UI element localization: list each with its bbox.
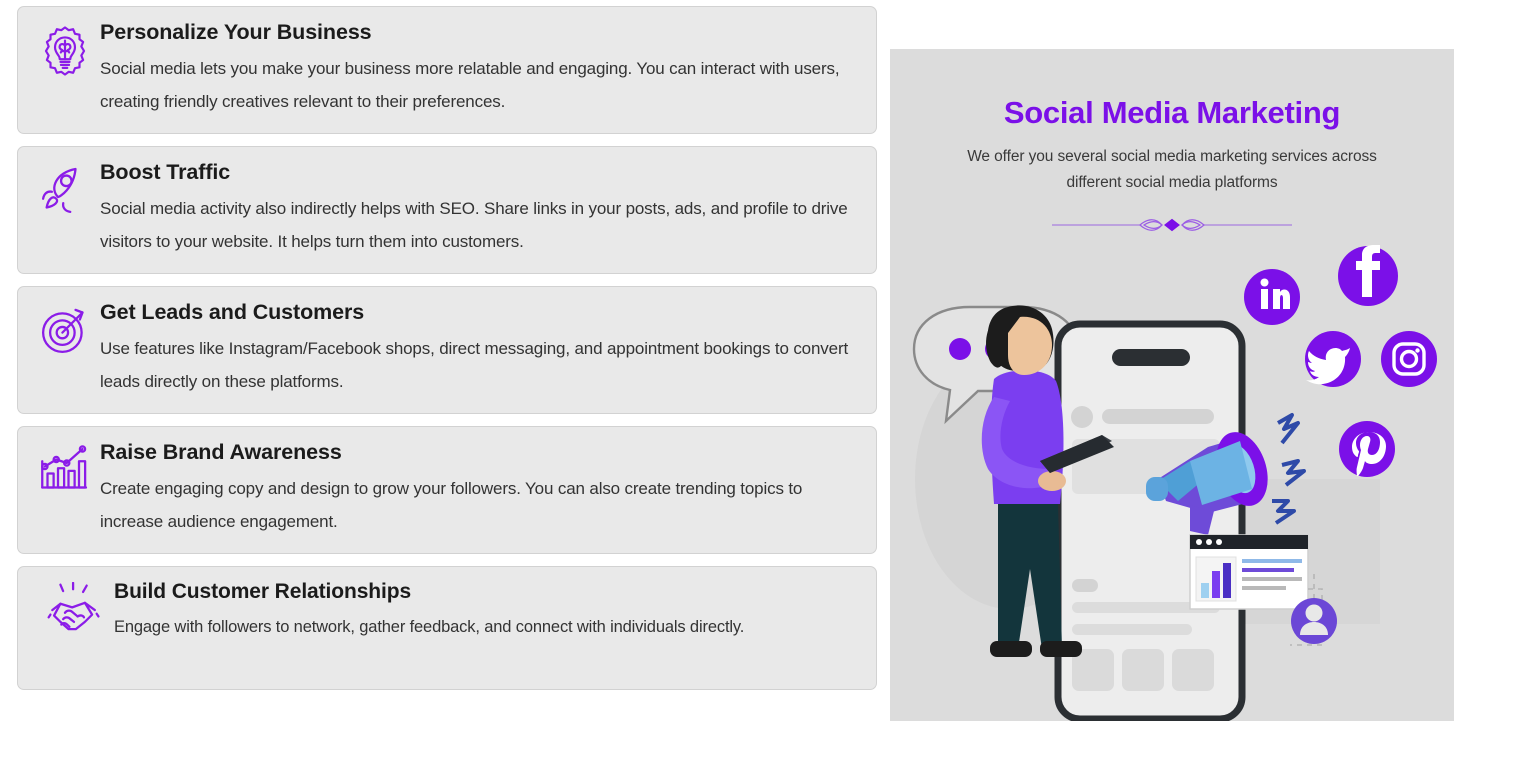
handshake-icon: [36, 580, 112, 646]
linkedin-icon: [1244, 269, 1300, 325]
benefit-card[interactable]: Boost Traffic Social media activity also…: [17, 146, 877, 274]
smartphone-mockup: [1058, 324, 1242, 719]
benefit-title: Build Customer Relationships: [114, 580, 862, 604]
benefit-text: Create engaging copy and design to grow …: [100, 472, 862, 538]
benefit-text: Engage with followers to network, gather…: [114, 611, 862, 643]
benefit-title: Personalize Your Business: [100, 20, 862, 45]
benefit-card[interactable]: Personalize Your Business Social media l…: [17, 6, 877, 134]
benefit-content: Raise Brand Awareness Create engaging co…: [98, 440, 862, 538]
benefit-content: Get Leads and Customers Use features lik…: [98, 300, 862, 398]
benefits-list: Personalize Your Business Social media l…: [0, 0, 890, 777]
social-media-illustration: [890, 49, 1454, 721]
instagram-icon: [1381, 331, 1437, 387]
benefit-title: Raise Brand Awareness: [100, 440, 862, 465]
pinterest-icon: [1339, 421, 1395, 477]
benefit-text: Social media lets you make your business…: [100, 52, 862, 118]
benefit-card[interactable]: Get Leads and Customers Use features lik…: [17, 286, 877, 414]
benefit-title: Boost Traffic: [100, 160, 862, 185]
benefit-content: Personalize Your Business Social media l…: [98, 20, 862, 118]
twitter-icon: [1305, 331, 1361, 387]
analytics-browser-window: [1190, 535, 1308, 609]
target-arrow-icon: [32, 300, 98, 366]
benefit-content: Build Customer Relationships Engage with…: [112, 580, 862, 643]
benefit-content: Boost Traffic Social media activity also…: [98, 160, 862, 258]
bar-chart-growth-icon: [32, 440, 98, 506]
benefit-card[interactable]: Raise Brand Awareness Create engaging co…: [17, 426, 877, 554]
social-media-marketing-panel: Social Media Marketing We offer you seve…: [890, 49, 1454, 721]
benefit-text: Social media activity also indirectly he…: [100, 192, 862, 258]
benefit-card[interactable]: Build Customer Relationships Engage with…: [17, 566, 877, 690]
gear-lightbulb-icon: [32, 20, 98, 86]
illustration-column: Social Media Marketing We offer you seve…: [890, 0, 1536, 777]
user-avatar-icon: [1291, 598, 1337, 644]
facebook-icon: [1338, 245, 1398, 306]
page-root: Personalize Your Business Social media l…: [0, 0, 1536, 777]
benefit-text: Use features like Instagram/Facebook sho…: [100, 332, 862, 398]
benefit-title: Get Leads and Customers: [100, 300, 862, 325]
rocket-icon: [32, 160, 98, 226]
